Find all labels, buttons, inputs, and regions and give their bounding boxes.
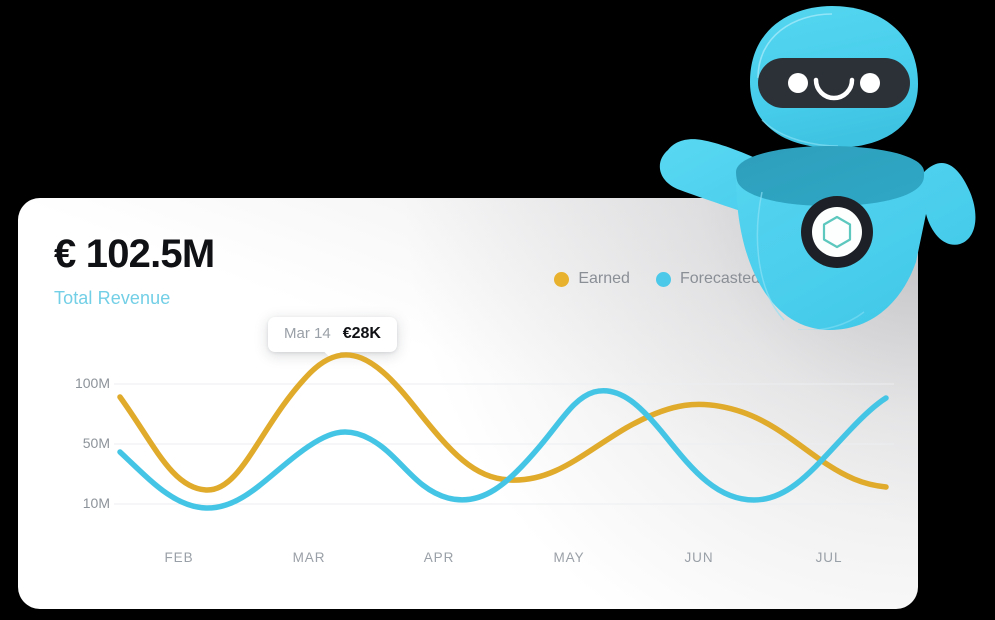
y-tick-label: 10M: [83, 495, 110, 511]
legend-dot-icon: [554, 272, 569, 287]
chart-svg: [114, 384, 894, 529]
y-axis: 100M 50M 10M: [54, 384, 110, 529]
y-tick-label: 50M: [83, 435, 110, 451]
y-tick-label: 100M: [75, 375, 110, 391]
tooltip-value: €28K: [343, 325, 381, 343]
legend-dot-icon: [656, 272, 671, 287]
robot-smile-icon: [816, 80, 852, 98]
chart-plot-area: [114, 384, 894, 529]
x-tick-label: MAY: [504, 550, 634, 565]
robot-visor: [758, 58, 910, 108]
legend-label-earned: Earned: [578, 270, 630, 288]
robot-head: [750, 6, 918, 148]
x-tick-label: MAR: [244, 550, 374, 565]
legend-label-forecasted: Forecasted: [680, 270, 760, 288]
x-tick-label: JUN: [634, 550, 764, 565]
x-tick-label: APR: [374, 550, 504, 565]
legend-item-forecasted[interactable]: Forecasted: [656, 270, 760, 288]
legend-item-earned[interactable]: Earned: [554, 270, 630, 288]
x-tick-label: FEB: [114, 550, 244, 565]
kpi-block: € 102.5M Total Revenue: [54, 234, 214, 309]
kpi-label: Total Revenue: [54, 288, 214, 309]
x-tick-label: JUL: [764, 550, 894, 565]
robot-eye-right-icon: [860, 73, 880, 93]
robot-eye-left-icon: [788, 73, 808, 93]
series-line-earned: [120, 355, 886, 490]
chart-tooltip: Mar 14 €28K: [268, 317, 397, 352]
tooltip-date: Mar 14: [284, 325, 331, 342]
series-line-forecasted: [120, 391, 886, 508]
x-axis: FEB MAR APR MAY JUN JUL: [114, 550, 894, 565]
revenue-card: € 102.5M Total Revenue Earned Forecasted…: [18, 198, 918, 609]
kpi-value: € 102.5M: [54, 234, 214, 274]
chart-legend: Earned Forecasted: [554, 270, 760, 288]
screenshot-stage: € 102.5M Total Revenue Earned Forecasted…: [0, 0, 995, 620]
